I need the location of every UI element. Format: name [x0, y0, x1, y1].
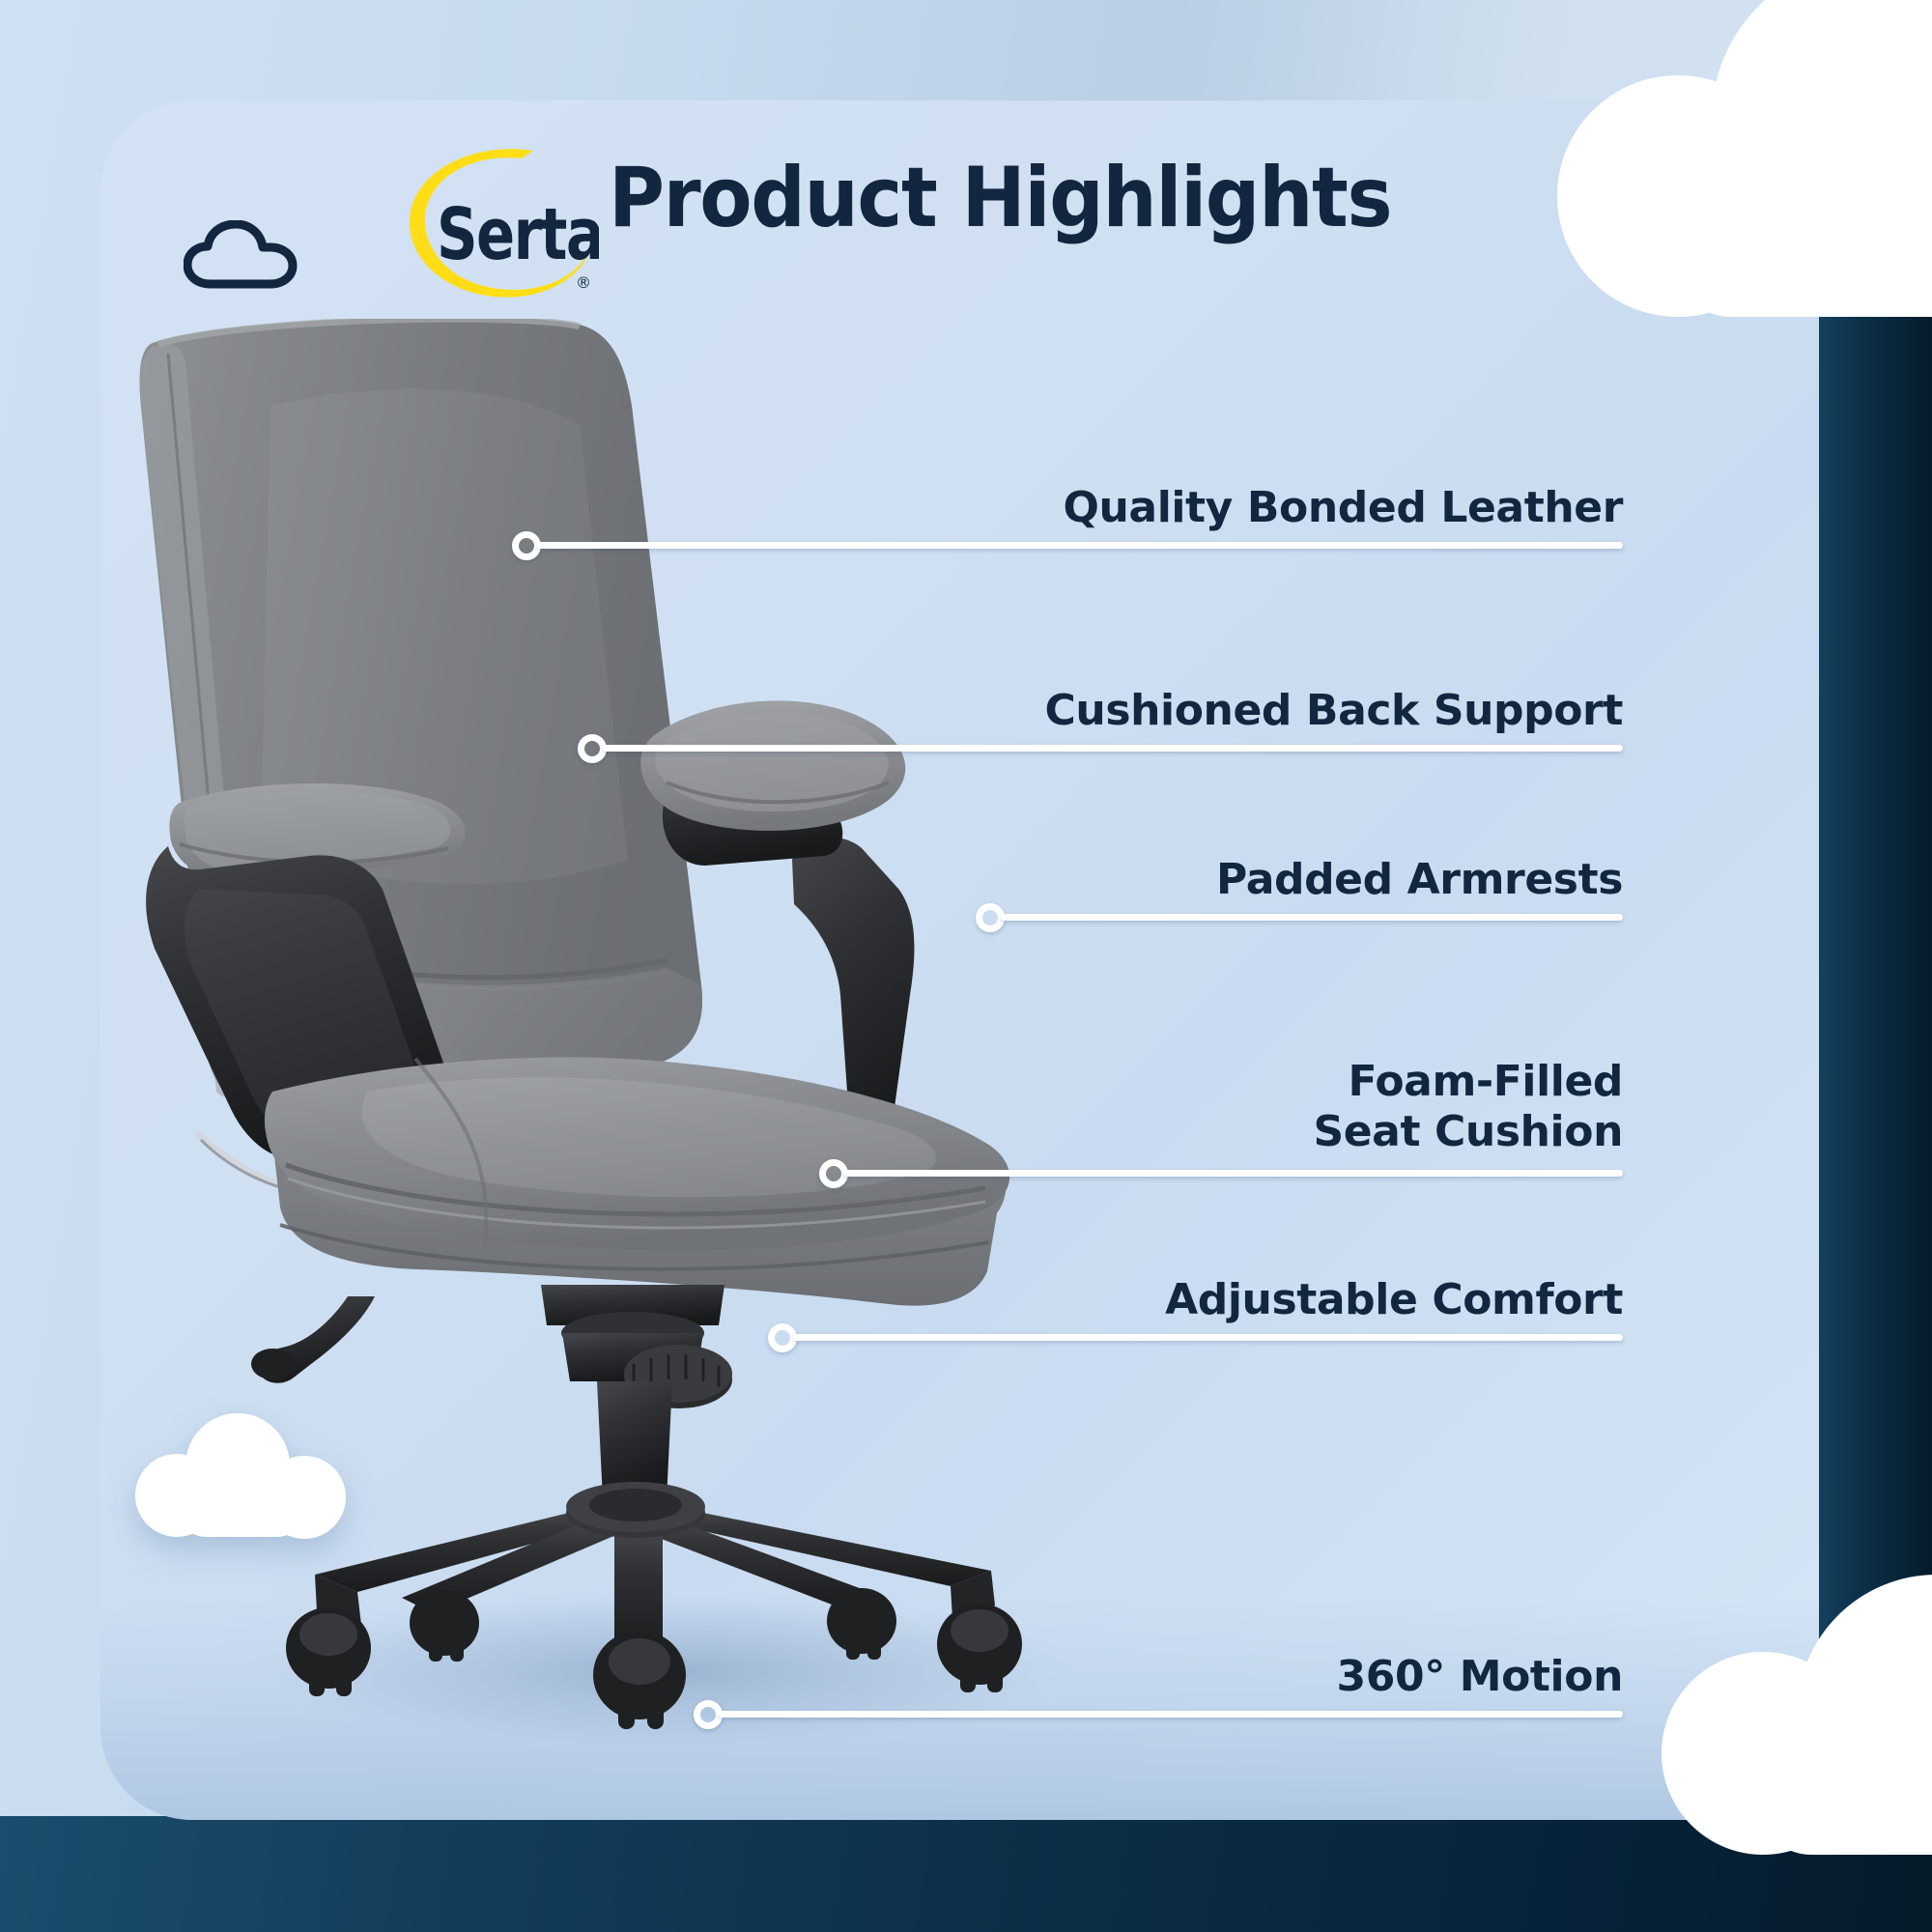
callout-label: Padded Armrests: [1216, 855, 1623, 905]
callout-label: Quality Bonded Leather: [1063, 483, 1623, 533]
callout-label-line-2: Seat Cushion: [819, 1107, 1623, 1157]
callout-padded-armrests[interactable]: Padded Armrests: [976, 826, 1623, 942]
callout-adjustable-comfort[interactable]: Adjustable Comfort: [768, 1246, 1623, 1362]
callout-line: [793, 1334, 1623, 1341]
navy-right-band: [1819, 0, 1932, 1932]
callout-360-motion[interactable]: 360° Motion: [694, 1623, 1623, 1739]
callout-foam-filled-seat-cushion[interactable]: Foam-Filled Seat Cushion: [819, 1024, 1623, 1198]
callout-quality-bonded-leather[interactable]: Quality Bonded Leather: [512, 454, 1623, 570]
header: Serta ® Product Highlights: [184, 135, 1690, 299]
callout-label: Foam-Filled Seat Cushion: [819, 1057, 1623, 1157]
infographic-canvas: Serta ® Product Highlights Quality Bonde…: [0, 0, 1932, 1932]
callout-cushioned-back-support[interactable]: Cushioned Back Support: [578, 657, 1623, 773]
svg-text:®: ®: [576, 273, 591, 292]
callout-line: [603, 745, 1623, 752]
callout-line: [1001, 914, 1623, 921]
callout-line: [844, 1170, 1623, 1177]
callout-label: Cushioned Back Support: [1045, 686, 1623, 736]
serta-logo-icon: Serta ®: [386, 135, 599, 304]
callout-label: Adjustable Comfort: [1165, 1275, 1623, 1325]
svg-text:Serta: Serta: [437, 193, 599, 276]
callout-line: [537, 542, 1623, 549]
cloud-outline-icon: [184, 220, 298, 290]
callout-line: [719, 1711, 1623, 1718]
callout-label-line-1: Foam-Filled: [819, 1057, 1623, 1107]
page-title: Product Highlights: [609, 156, 1391, 240]
callout-label: 360° Motion: [1337, 1652, 1623, 1702]
navy-bottom-band: [0, 1816, 1932, 1932]
